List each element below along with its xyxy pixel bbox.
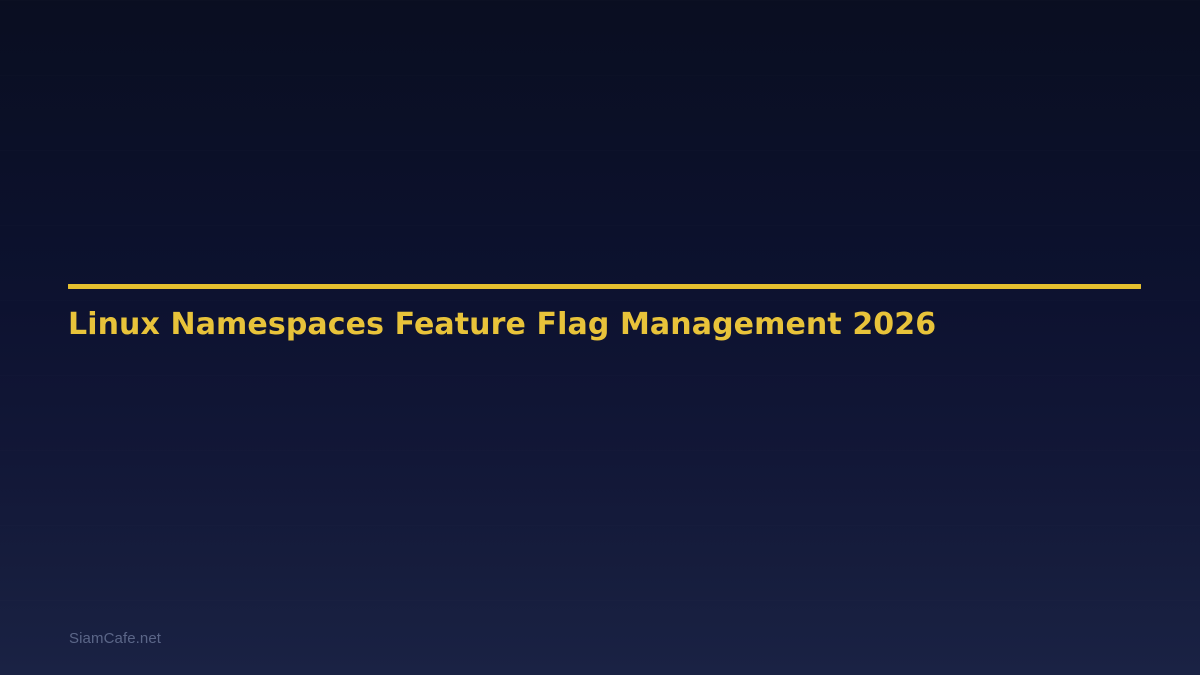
accent-bar xyxy=(68,284,1141,289)
page-title: Linux Namespaces Feature Flag Management… xyxy=(68,305,1141,345)
footer-attribution: SiamCafe.net xyxy=(69,630,161,648)
title-slide: Linux Namespaces Feature Flag Management… xyxy=(0,0,1200,675)
title-block: Linux Namespaces Feature Flag Management… xyxy=(68,284,1141,345)
